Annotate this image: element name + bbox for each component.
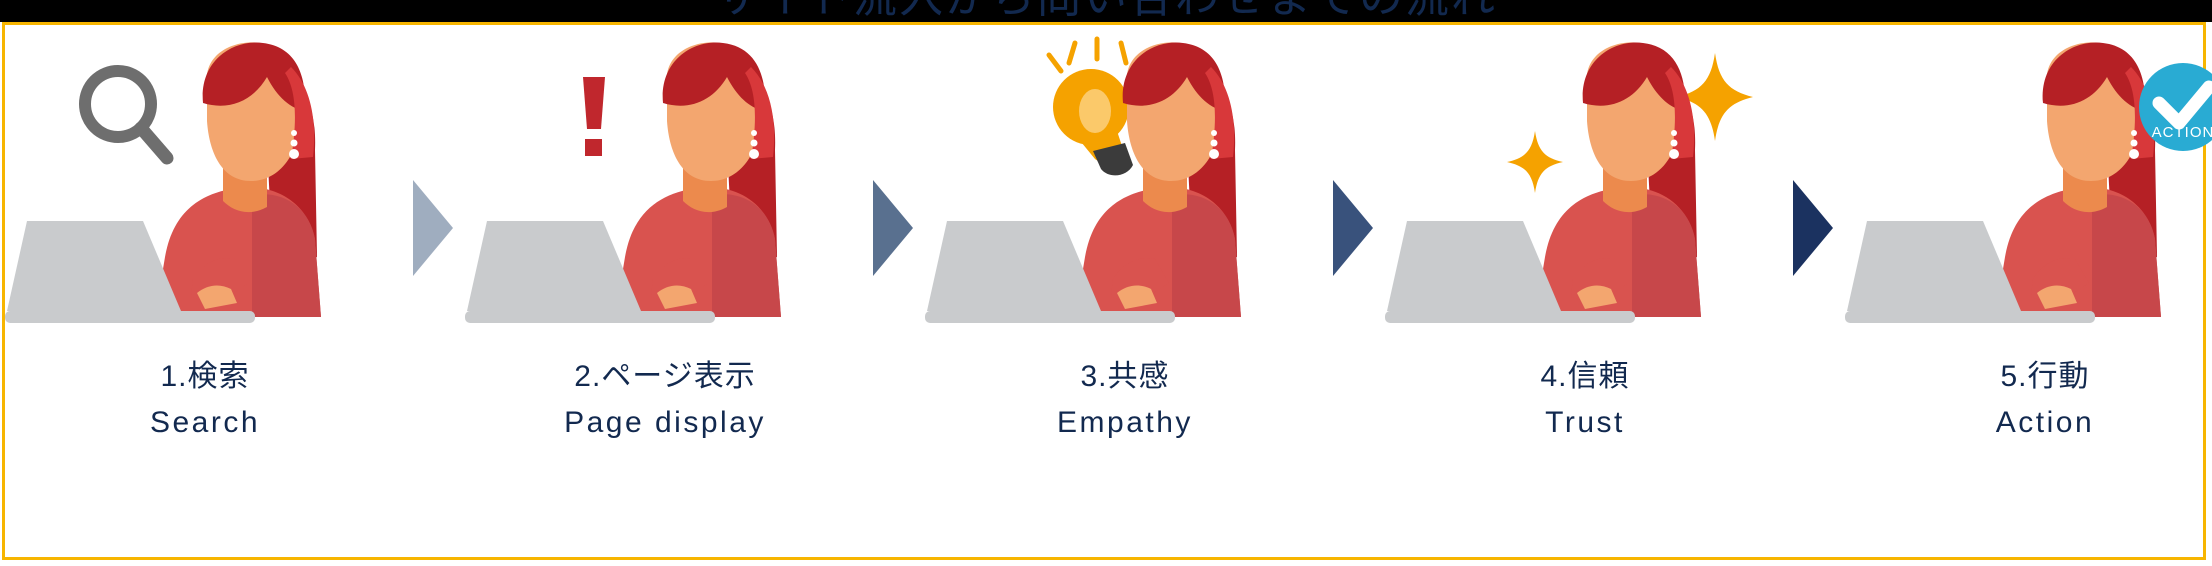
- woman-at-laptop-illustration: ACTION: [1845, 25, 2212, 355]
- top-black-bar: [0, 0, 2212, 22]
- arrow-right-icon: [873, 180, 913, 276]
- step-labels-empathy: 3.共感 Empathy: [1057, 355, 1193, 447]
- step-illustration-trust: [1385, 25, 1785, 355]
- flow-step-search[interactable]: 1.検索 Search: [5, 25, 405, 557]
- flow-arrow-3: [1325, 25, 1385, 557]
- arrow-right-icon: [1793, 180, 1833, 276]
- woman-at-laptop-illustration: [465, 25, 865, 355]
- flow-step-empathy[interactable]: 3.共感 Empathy: [925, 25, 1325, 557]
- flow-panel: 1.検索 Search: [2, 22, 2206, 560]
- step-label-en: Empathy: [1057, 399, 1193, 447]
- step-label-en: Page display: [564, 399, 766, 447]
- flow-arrow-4: [1785, 25, 1845, 557]
- step-labels-page-display: 2.ページ表示 Page display: [564, 355, 766, 447]
- step-illustration-empathy: [925, 25, 1325, 355]
- woman-at-laptop-illustration: [925, 25, 1325, 355]
- step-labels-search: 1.検索 Search: [150, 355, 260, 447]
- exclamation-mark-icon: [583, 77, 605, 156]
- magnifier-icon: [85, 71, 167, 158]
- flow-arrow-1: [405, 25, 465, 557]
- flow-arrow-2: [865, 25, 925, 557]
- step-illustration-action: ACTION: [1845, 25, 2212, 355]
- step-illustration-search: [5, 25, 405, 355]
- arrow-right-icon: [1333, 180, 1373, 276]
- action-badge-text: ACTION: [2152, 124, 2212, 141]
- arrow-right-icon: [413, 180, 453, 276]
- steps-row: 1.検索 Search: [5, 25, 2203, 557]
- step-label-en: Trust: [1540, 399, 1629, 447]
- step-label-ja: 3.共感: [1057, 355, 1193, 399]
- step-label-en: Action: [1996, 399, 2094, 447]
- step-label-ja: 2.ページ表示: [564, 355, 766, 399]
- step-label-en: Search: [150, 399, 260, 447]
- flow-step-action[interactable]: ACTION 5.行動 Action: [1845, 25, 2212, 557]
- woman-at-laptop-illustration: [1385, 25, 1785, 355]
- lightbulb-icon: [1049, 39, 1133, 175]
- woman-at-laptop-illustration: [5, 25, 405, 355]
- flow-step-page-display[interactable]: 2.ページ表示 Page display: [465, 25, 865, 557]
- step-labels-action: 5.行動 Action: [1996, 355, 2094, 447]
- step-labels-trust: 4.信頼 Trust: [1540, 355, 1629, 447]
- flow-step-trust[interactable]: 4.信頼 Trust: [1385, 25, 1785, 557]
- step-label-ja: 4.信頼: [1540, 355, 1629, 399]
- step-label-ja: 1.検索: [150, 355, 260, 399]
- step-illustration-page-display: [465, 25, 865, 355]
- step-label-ja: 5.行動: [1996, 355, 2094, 399]
